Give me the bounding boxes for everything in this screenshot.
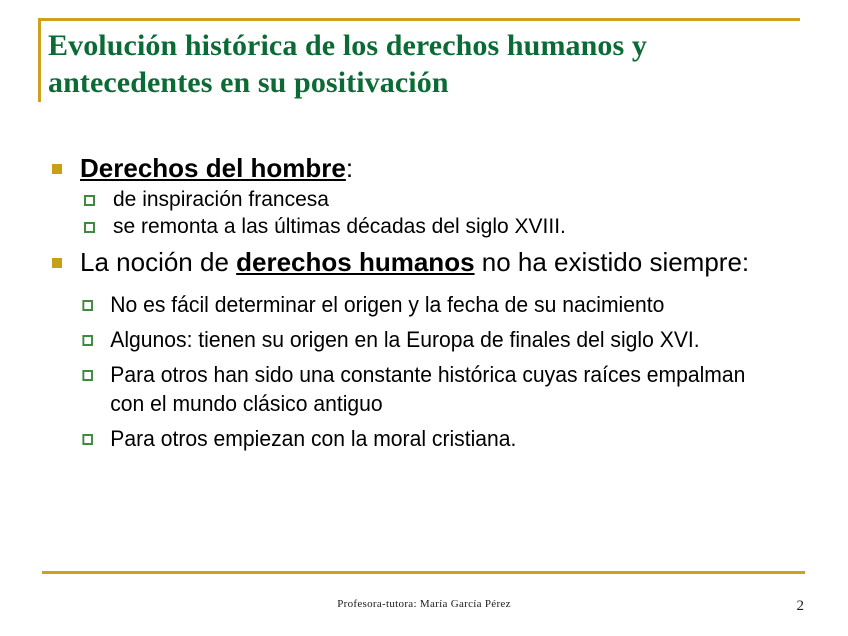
bullet-level2-item: se remonta a las últimas décadas del sig… xyxy=(44,213,814,240)
bullet-level1-prefix-2: La noción de xyxy=(80,247,236,277)
title-rule-horizontal xyxy=(38,18,800,21)
bullet-level1-emphasis-1: Derechos del hombre xyxy=(80,153,346,183)
page-number: 2 xyxy=(797,598,805,615)
square-bullet-icon xyxy=(52,258,62,268)
hollow-square-bullet-icon xyxy=(82,300,93,311)
title-line-1: Evolución histórica de los derechos huma… xyxy=(48,27,788,64)
title-line-2: antecedentes en su positivación xyxy=(48,64,788,101)
bullet-level1-emphasis-2: derechos humanos xyxy=(236,247,474,277)
bullet-level2-label: de inspiración francesa xyxy=(113,188,329,211)
bullet-level2-label: No es fácil determinar el origen y la fe… xyxy=(110,292,664,317)
bullet-level2-label: Para otros han sido una constante histór… xyxy=(110,362,745,416)
bullet-level2-label: Para otros empiezan con la moral cristia… xyxy=(110,426,516,451)
footer-rule xyxy=(42,571,805,574)
hollow-square-bullet-icon xyxy=(82,434,93,445)
bullet-level2-label: se remonta a las últimas décadas del sig… xyxy=(113,215,566,238)
bullet-level1-suffix-1: : xyxy=(346,153,353,183)
bullet-level1-item-1: Derechos del hombre: xyxy=(44,152,814,184)
bullet-level2-label: Algunos: tienen su origen en la Europa d… xyxy=(110,327,699,352)
hollow-square-bullet-icon xyxy=(84,222,95,233)
slide-body: Derechos del hombre: de inspiración fran… xyxy=(44,152,814,453)
bullet-level2-item: Para otros han sido una constante histór… xyxy=(44,360,783,418)
bullet-level2-item: Algunos: tienen su origen en la Europa d… xyxy=(44,325,783,354)
page-title: Evolución histórica de los derechos huma… xyxy=(48,27,788,101)
square-bullet-icon xyxy=(52,164,62,174)
footer-author-text: Profesora-tutora: María García Pérez xyxy=(0,598,848,610)
bullet-level1-suffix-2: no ha existido siempre: xyxy=(475,247,750,277)
slide-canvas: Evolución histórica de los derechos huma… xyxy=(0,0,848,636)
title-rule-vertical xyxy=(38,18,41,102)
hollow-square-bullet-icon xyxy=(82,335,93,346)
bullet-level1-item-2: La noción de derechos humanos no ha exis… xyxy=(44,246,814,278)
hollow-square-bullet-icon xyxy=(84,195,95,206)
bullet-level2-item: de inspiración francesa xyxy=(44,186,814,213)
bullet-level2-item: No es fácil determinar el origen y la fe… xyxy=(44,290,783,319)
bullet-level2-group: No es fácil determinar el origen y la fe… xyxy=(44,290,814,453)
hollow-square-bullet-icon xyxy=(82,370,93,381)
bullet-level2-item: Para otros empiezan con la moral cristia… xyxy=(44,424,783,453)
slide-footer: Profesora-tutora: María García Pérez 2 xyxy=(0,598,848,622)
